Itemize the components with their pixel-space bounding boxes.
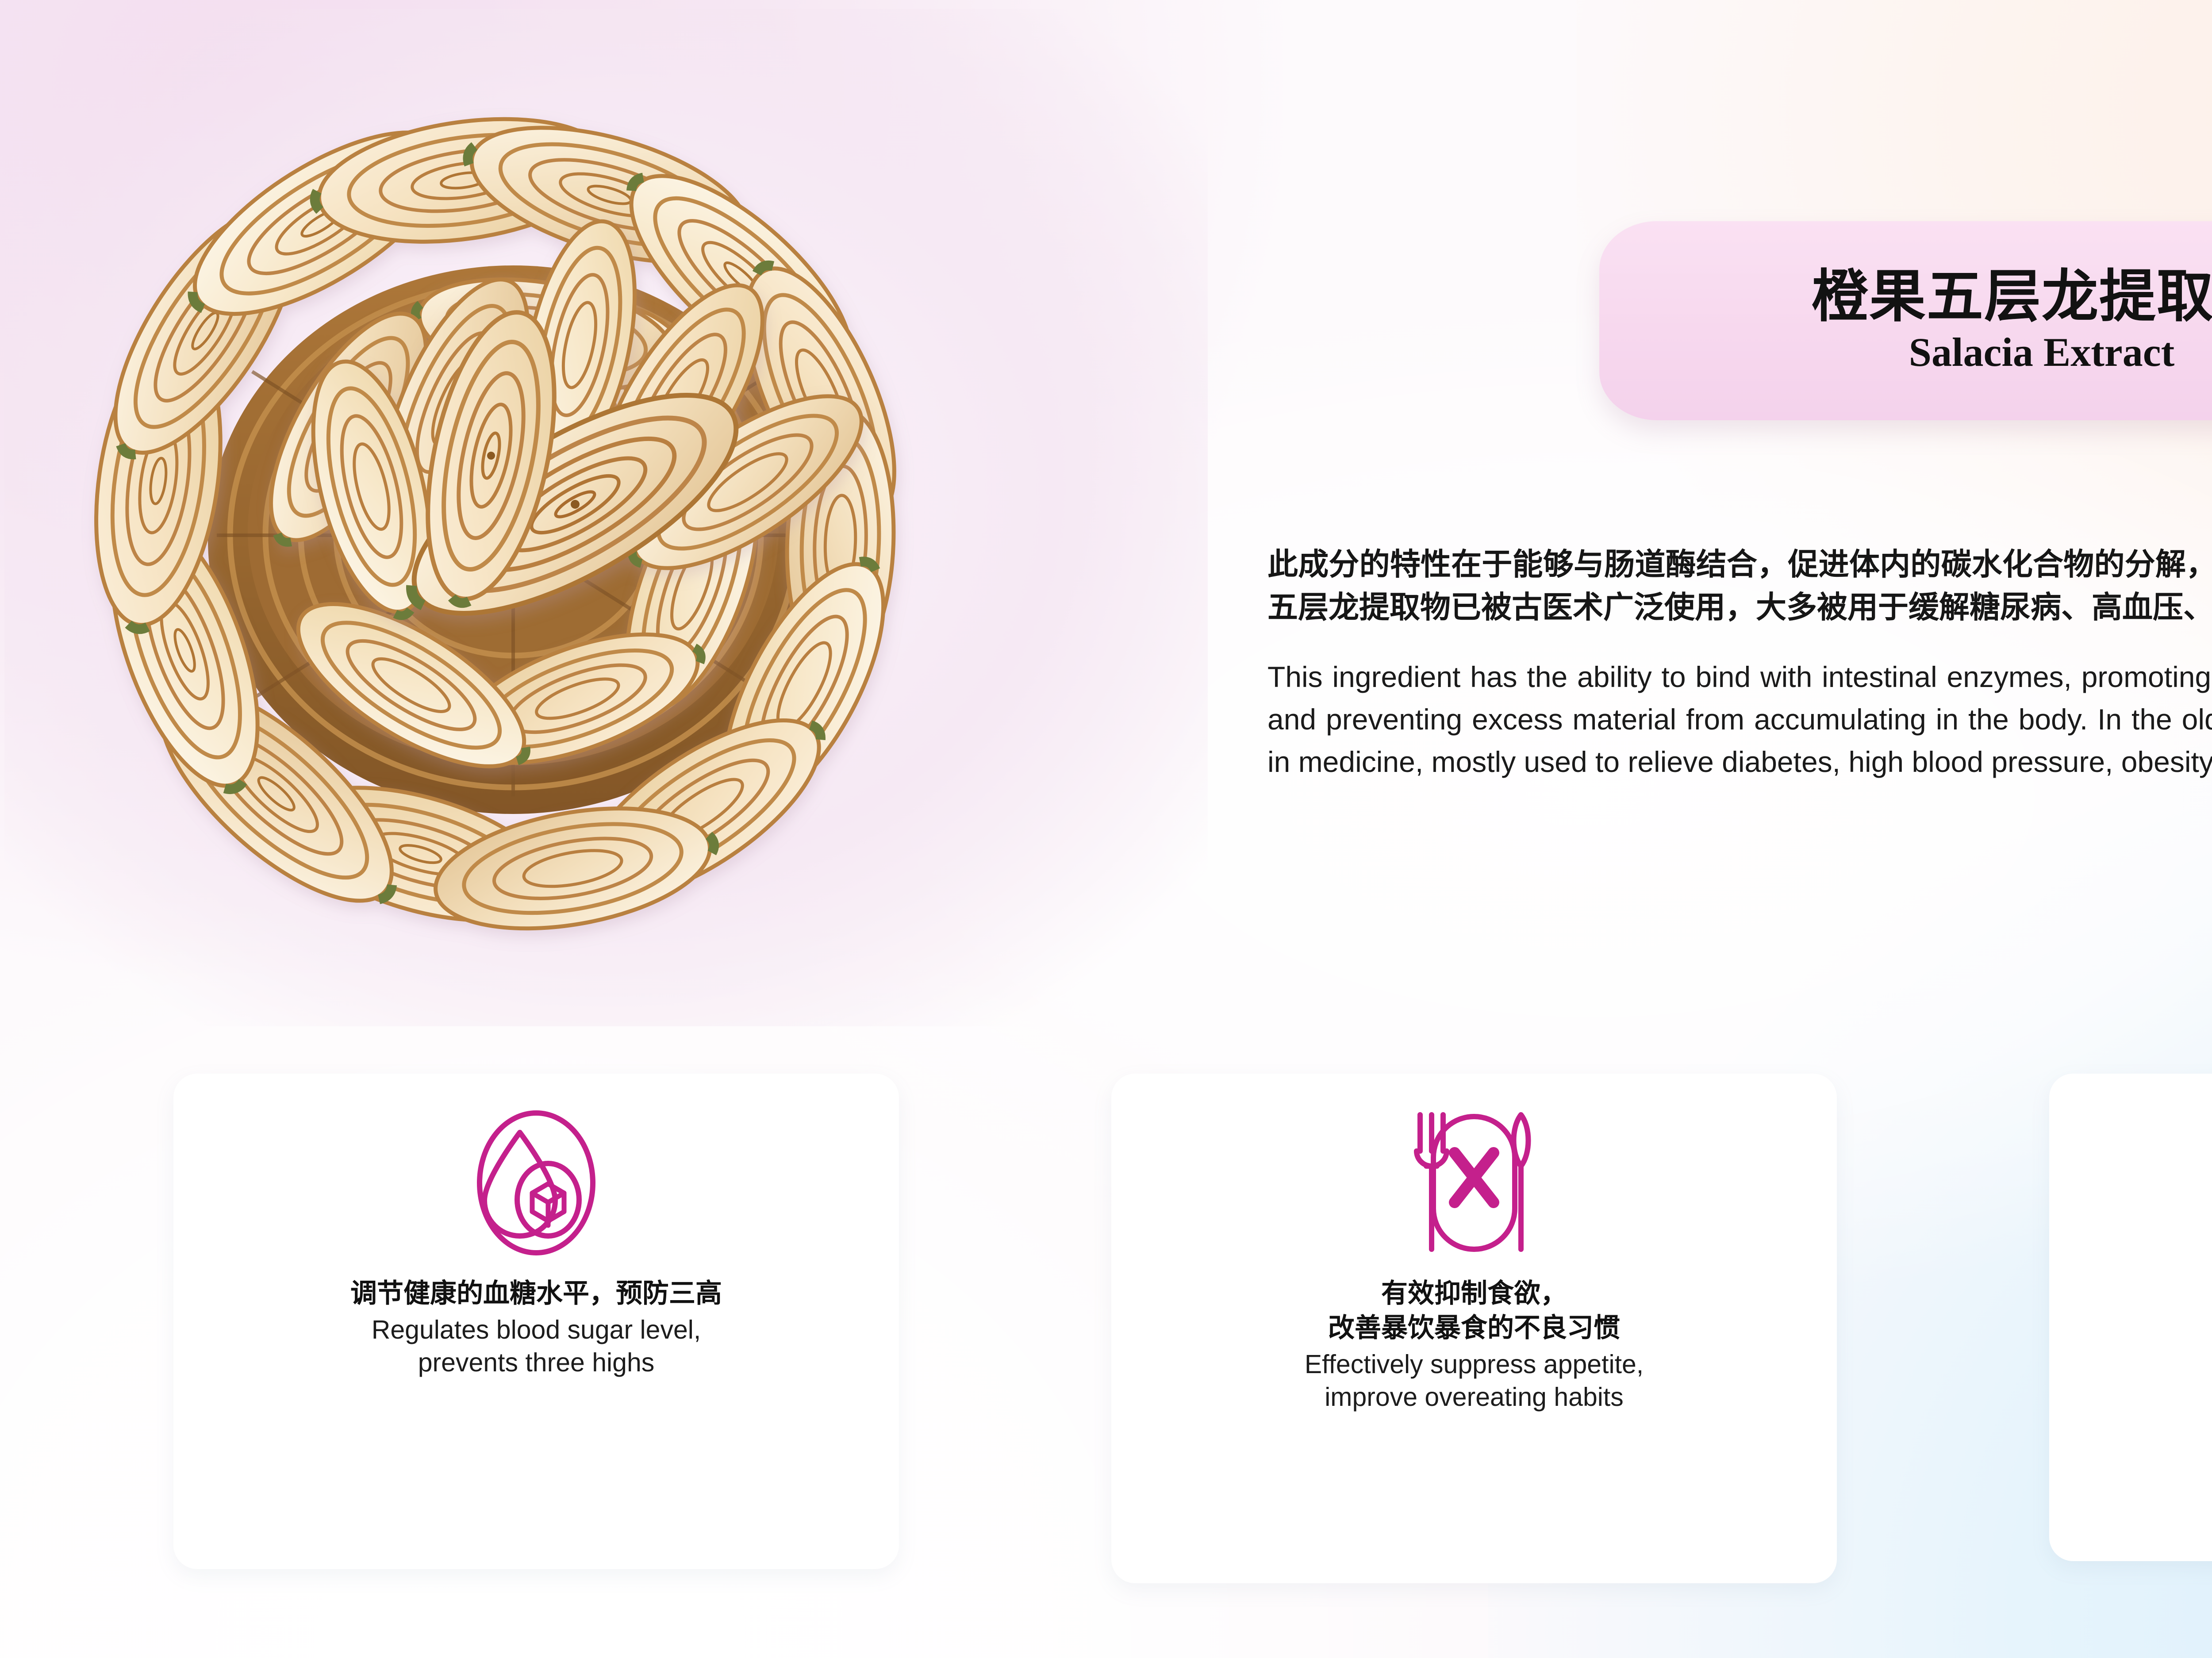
card-title-english: Regulates blood sugar level, prevents th… [372, 1313, 701, 1379]
title-english: Salacia Extract [1909, 330, 2174, 375]
title-chinese: 橙果五层龙提取物 [1812, 266, 2212, 327]
no-overeating-plate-icon [1399, 1105, 1549, 1260]
poster-canvas: 橙果五层龙提取物 Salacia Extract 此成分的特性在于能够与肠道酶结… [0, 0, 2212, 1658]
salacia-root-photo [4, 9, 1208, 1026]
description-block: 此成分的特性在于能够与肠道酶结合，促进体内的碳水化合物的分解，防止多余的物质堆积… [1267, 543, 2212, 783]
benefit-card-row: 调节健康的血糖水平，预防三高 Regulates blood sugar lev… [173, 1074, 2212, 1587]
card-title-chinese: 有效抑制食欲， 改善暴饮暴食的不良习惯 [1328, 1276, 1620, 1345]
benefit-card-appetite[interactable]: 有效抑制食欲， 改善暴饮暴食的不良习惯 Effectively suppress… [1111, 1074, 1837, 1583]
description-english: This ingredient has the ability to bind … [1267, 656, 2212, 783]
card-title-english: Effectively suppress appetite, improve o… [1305, 1348, 1644, 1414]
benefit-card-metabolism[interactable]: 促进新陈代谢，防止代谢紊乱 Promote metabolism and pre… [2049, 1074, 2212, 1561]
card-title-chinese: 调节健康的血糖水平，预防三高 [350, 1276, 722, 1311]
title-badge: 橙果五层龙提取物 Salacia Extract [1599, 221, 2212, 420]
description-chinese: 此成分的特性在于能够与肠道酶结合，促进体内的碳水化合物的分解，防止多余的物质堆积… [1267, 543, 2212, 629]
blood-sugar-droplet-icon [463, 1105, 609, 1260]
benefit-card-blood-sugar[interactable]: 调节健康的血糖水平，预防三高 Regulates blood sugar lev… [173, 1074, 899, 1569]
